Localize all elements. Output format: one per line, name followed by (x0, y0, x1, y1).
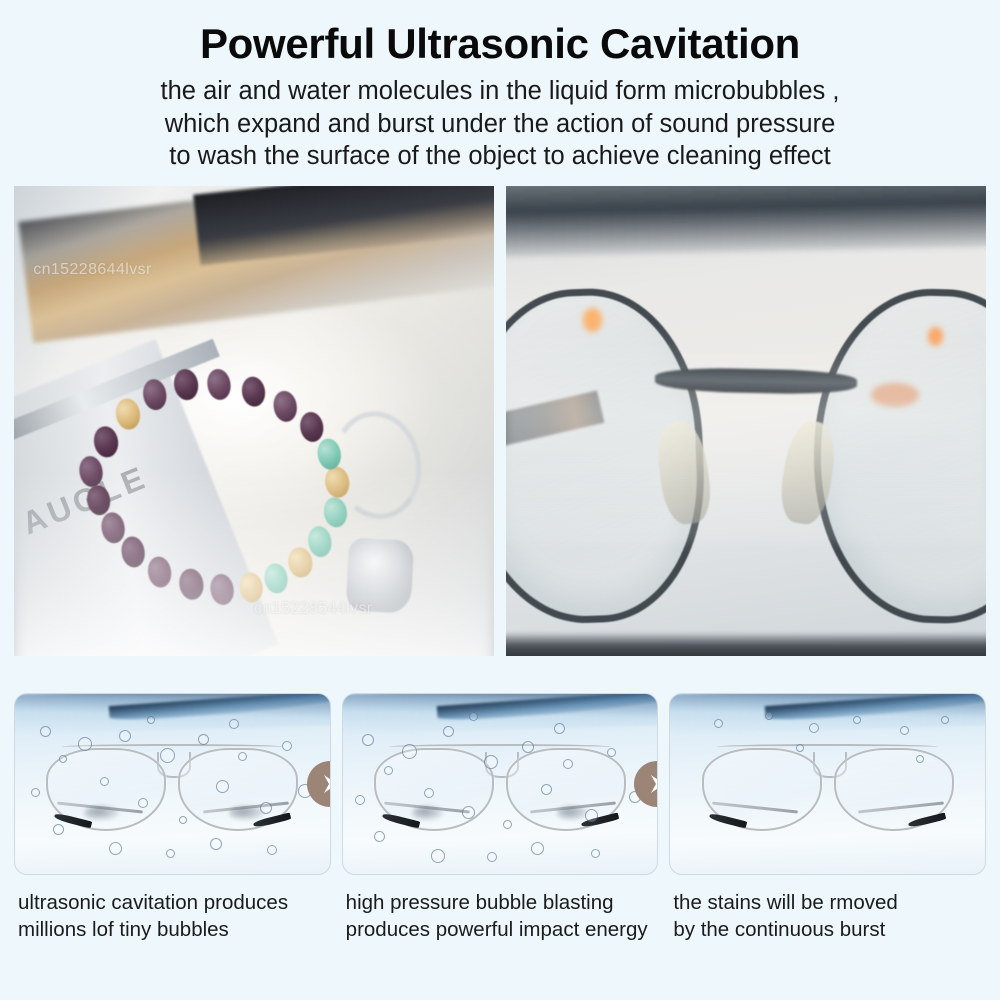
bubble (362, 734, 374, 746)
step-caption-3: the stains will be rmoved by the continu… (669, 889, 986, 943)
bubble (531, 842, 544, 855)
aviator-glasses (374, 748, 626, 842)
step-arrow-2 (634, 761, 658, 807)
bead (92, 425, 120, 459)
stain-smudge (557, 806, 588, 820)
bubble (31, 788, 40, 797)
step-arrow-1 (307, 761, 331, 807)
step-image-clean-glasses (669, 693, 986, 875)
page-subtitle: the air and water molecules in the liqui… (0, 75, 1000, 173)
water-haze (506, 327, 986, 543)
chevron-right-icon (320, 773, 331, 795)
photo-bracelet-in-ultrasonic-tank: AUGLE cn152 (14, 186, 494, 656)
stain-smudge (84, 806, 119, 820)
tank-mist (14, 468, 494, 656)
bubble (166, 849, 175, 858)
bubble (591, 849, 600, 858)
bubble (267, 845, 277, 855)
bead (272, 389, 300, 423)
bubble (431, 849, 445, 863)
bead (298, 410, 326, 444)
subtitle-line-1: the air and water molecules in the liqui… (0, 75, 1000, 108)
step-caption-2: high pressure bubble blasting produces p… (342, 889, 659, 943)
caption-line: the stains will be rmoved (673, 889, 986, 916)
caption-line: ultrasonic cavitation produces (18, 889, 331, 916)
bead (141, 378, 169, 412)
bead (205, 368, 233, 402)
bubble (198, 734, 209, 745)
subtitle-line-3: to wash the surface of the object to ach… (0, 140, 1000, 173)
bubble (355, 795, 365, 805)
step-image-bubbles-dense (14, 693, 331, 875)
tank-surface-dark-band (506, 186, 986, 257)
hero-photo-row: AUGLE cn152 (14, 186, 986, 656)
page-title: Powerful Ultrasonic Cavitation (0, 22, 1000, 66)
process-step-1: ultrasonic cavitation produces millions … (14, 693, 331, 943)
watermark: cn15228644lvsr (33, 261, 152, 279)
tank-bottom-edge (506, 633, 986, 657)
watermark: cn15228544lvsr (254, 600, 373, 618)
process-steps-row: ultrasonic cavitation produces millions … (14, 693, 986, 943)
aviator-glasses (46, 748, 298, 842)
bubble (119, 730, 131, 742)
chevron-right-icon (647, 773, 658, 795)
caption-line: by the continuous burst (673, 916, 986, 943)
stain-smudge (412, 806, 443, 820)
bubble (900, 726, 909, 735)
bubble (109, 842, 122, 855)
bead (240, 374, 268, 408)
caption-line: produces powerful impact energy (346, 916, 659, 943)
caption-line: high pressure bubble blasting (346, 889, 659, 916)
bubble (487, 852, 497, 862)
process-step-3: the stains will be rmoved by the continu… (669, 693, 986, 943)
process-step-2: high pressure bubble blasting produces p… (342, 693, 659, 943)
header: Powerful Ultrasonic Cavitation the air a… (0, 0, 1000, 173)
bead (114, 397, 142, 431)
step-caption-1: ultrasonic cavitation produces millions … (14, 889, 331, 943)
stain-smudge (229, 806, 264, 820)
caption-line: millions lof tiny bubbles (18, 916, 331, 943)
aviator-glasses (702, 748, 954, 842)
subtitle-line-2: which expand and burst under the action … (0, 108, 1000, 141)
photo-eyeglasses-macro (506, 186, 986, 656)
bead (172, 368, 200, 402)
step-image-bubbles-blasting (342, 693, 659, 875)
